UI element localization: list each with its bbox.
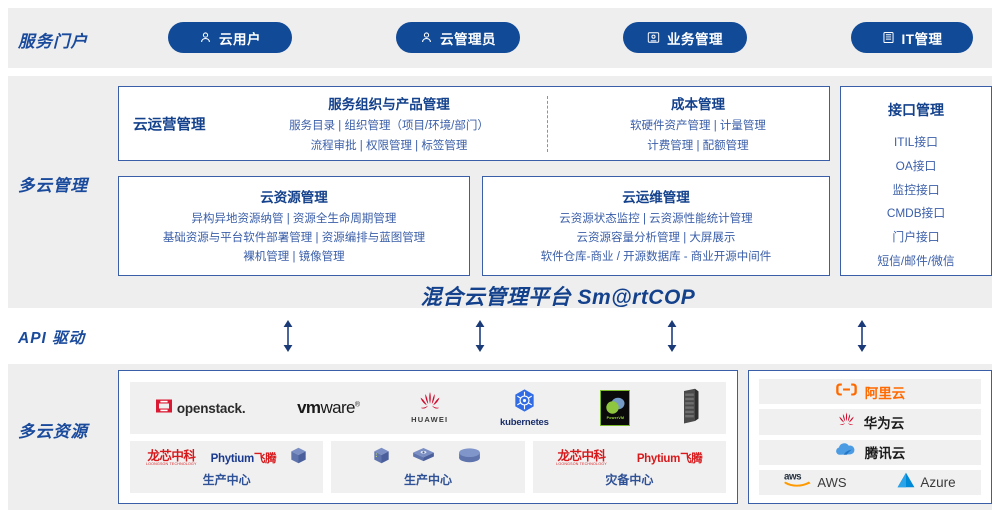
loongson-subtext: LOONGSON TECHNOLOGY [146,463,197,467]
platform-name-text: 混合云管理平台 Sm@rtCOP [421,286,696,309]
rail-label-portal: 服务门户 [18,28,118,52]
openstack-label: openstack. [177,401,246,416]
interface-item: ITIL接口 [894,131,938,155]
switch-icon [412,447,435,469]
cloud-om-management-box: 云运维管理 云资源状态监控 | 云资源性能统计管理 云资源容量分析管理 | 大屏… [482,176,830,276]
group-heading: 服务组织与产品管理 [328,93,450,113]
box-line: 基础资源与平台软件部署管理 | 资源编排与蓝图管理 [163,230,425,247]
public-cloud-box: 阿里云 华为 [748,370,992,504]
datacenter-production-1: 龙芯中科 LOONGSON TECHNOLOGY Phytium飞腾 [130,441,323,493]
kubernetes-label: kubernetes [500,418,549,428]
portal-button-it-mgmt[interactable]: IT管理 [851,22,973,53]
rail-label-management: 多云管理 [18,172,118,196]
public-cloud-aws-azure-row: aws AWS Azure [759,470,981,495]
portal-button-label: IT管理 [902,28,943,48]
loongson-logo: 龙芯中科 LOONGSON TECHNOLOGY [556,450,607,467]
interface-item: 监控接口 [892,179,939,203]
phytium-logo: Phytium飞腾 [637,450,703,466]
platform-name: 混合云管理平台 Sm@rtCOP [0,281,1000,311]
public-cloud-label: 华为云 [864,412,905,432]
interface-item: OA接口 [896,155,937,179]
openstack-logo: openstack. [156,398,246,419]
box-line: 软件仓库-商业 / 开源数据库 - 商业开源中间件 [541,249,772,266]
portal-button-business-mgmt[interactable]: 业务管理 [623,22,747,53]
loongson-label: 龙芯中科 [557,450,605,463]
vmware-logo: vmware® [297,398,359,418]
aws-icon: aws [784,470,812,494]
powervm-logo: PowerVM [600,390,630,426]
group-line: 流程审批 | 权限管理 | 标签管理 [311,138,468,155]
datacenter-disaster-recovery: 龙芯中科 LOONGSON TECHNOLOGY Phytium飞腾 灾备中心 [533,441,726,493]
cloud-resource-management-box: 云资源管理 异构异地资源纳管 | 资源全生命周期管理 基础资源与平台软件部署管理… [118,176,470,276]
api-arrow [666,320,678,352]
datacenter-name: 生产中心 [203,471,251,488]
server-icon [882,31,895,44]
public-cloud-label: 腾讯云 [865,442,906,462]
architecture-diagram: 服务门户 多云管理 API 驱动 多云资源 云用户 云管理员 业务管理 [0,0,1000,518]
tencent-cloud-icon [835,442,858,463]
cube-icon [290,447,307,470]
portal-button-cloud-admin[interactable]: 云管理员 [396,22,520,53]
datacenter-row: 龙芯中科 LOONGSON TECHNOLOGY Phytium飞腾 [130,441,726,493]
interface-item: 门户接口 [892,226,939,250]
cube-icon [373,447,390,470]
rail-label-api: API 驱动 [18,326,118,348]
public-cloud-label: 阿里云 [865,382,906,402]
api-arrow [474,320,486,352]
public-cloud-azure: Azure [897,472,955,493]
box-heading: 云运维管理 [622,186,690,206]
api-arrow [856,320,868,352]
portal-button-label: 业务管理 [667,28,723,48]
alibaba-cloud-icon [835,382,858,402]
phytium-logo: Phytium飞腾 [211,450,277,466]
box-line: 异构异地资源纳管 | 资源全生命周期管理 [192,211,397,228]
cloud-operations-box: 云运营管理 服务组织与产品管理 服务目录 | 组织管理（项目/环境/部门） 流程… [118,86,830,161]
huawei-label: HUAWEI [411,416,448,424]
service-product-group: 服务组织与产品管理 服务目录 | 组织管理（项目/环境/部门） 流程审批 | 权… [239,87,539,160]
box-line: 云资源状态监控 | 云资源性能统计管理 [559,211,752,228]
datacenter-name: 生产中心 [404,471,452,488]
interface-item: CMDB接口 [887,202,945,226]
group-line: 计费管理 | 配额管理 [647,138,748,155]
box-heading: 云资源管理 [260,186,328,206]
cost-management-group: 成本管理 软硬件资产管理 | 计量管理 计费管理 | 配额管理 [569,87,827,160]
datacenter-production-2: 生产中心 [331,441,524,493]
group-heading: 成本管理 [671,93,725,113]
box-line: 裸机管理 | 镜像管理 [243,249,344,266]
rail-label-resources: 多云资源 [18,418,118,442]
huawei-flower-icon [415,392,445,416]
portal-button-label: 云管理员 [440,28,496,48]
virtualization-platform-logos: openstack. vmware® [130,382,726,434]
box-line: 云资源容量分析管理 | 大屏展示 [577,230,736,247]
public-cloud-aliyun: 阿里云 [759,379,981,404]
group-line: 服务目录 | 组织管理（项目/环境/部门） [289,118,489,135]
vmware-label: vmware® [297,398,359,418]
portal-button-label: 云用户 [219,28,261,48]
user-icon [420,31,433,44]
user-icon [199,31,212,44]
openstack-icon [156,398,172,419]
huawei-cloud-icon [836,412,857,432]
box-heading: 接口管理 [888,100,944,120]
azure-label: Azure [920,475,955,490]
powervm-label: PowerVM [607,416,625,420]
portal-button-cloud-user[interactable]: 云用户 [168,22,292,53]
group-line: 软硬件资产管理 | 计量管理 [630,118,766,135]
cloud-operations-title: 云运营管理 [133,113,206,134]
interface-item: 短信/邮件/微信 [877,250,954,274]
api-band [8,316,992,356]
vertical-dashed-divider [547,96,548,152]
huawei-logo: HUAWEI [411,392,448,424]
loongson-label: 龙芯中科 [147,450,195,463]
api-arrow [282,320,294,352]
public-cloud-aws: aws AWS [784,470,846,494]
private-cloud-box: openstack. vmware® [118,370,738,504]
svg-text:aws: aws [784,472,802,483]
monitor-icon [647,31,660,44]
public-cloud-tencent: 腾讯云 [759,440,981,465]
loongson-logo: 龙芯中科 LOONGSON TECHNOLOGY [146,450,197,467]
public-cloud-huawei: 华为云 [759,409,981,434]
aws-label: AWS [817,475,846,490]
loongson-subtext: LOONGSON TECHNOLOGY [556,463,607,467]
kubernetes-logo: kubernetes [500,388,549,428]
azure-icon [897,472,915,493]
server-rack-icon [682,388,700,429]
kubernetes-wheel-icon [512,388,537,418]
storage-icon [457,447,482,469]
interface-management-box: 接口管理 ITIL接口 OA接口 监控接口 CMDB接口 门户接口 短信/邮件/… [840,86,992,276]
datacenter-name: 灾备中心 [605,471,653,488]
